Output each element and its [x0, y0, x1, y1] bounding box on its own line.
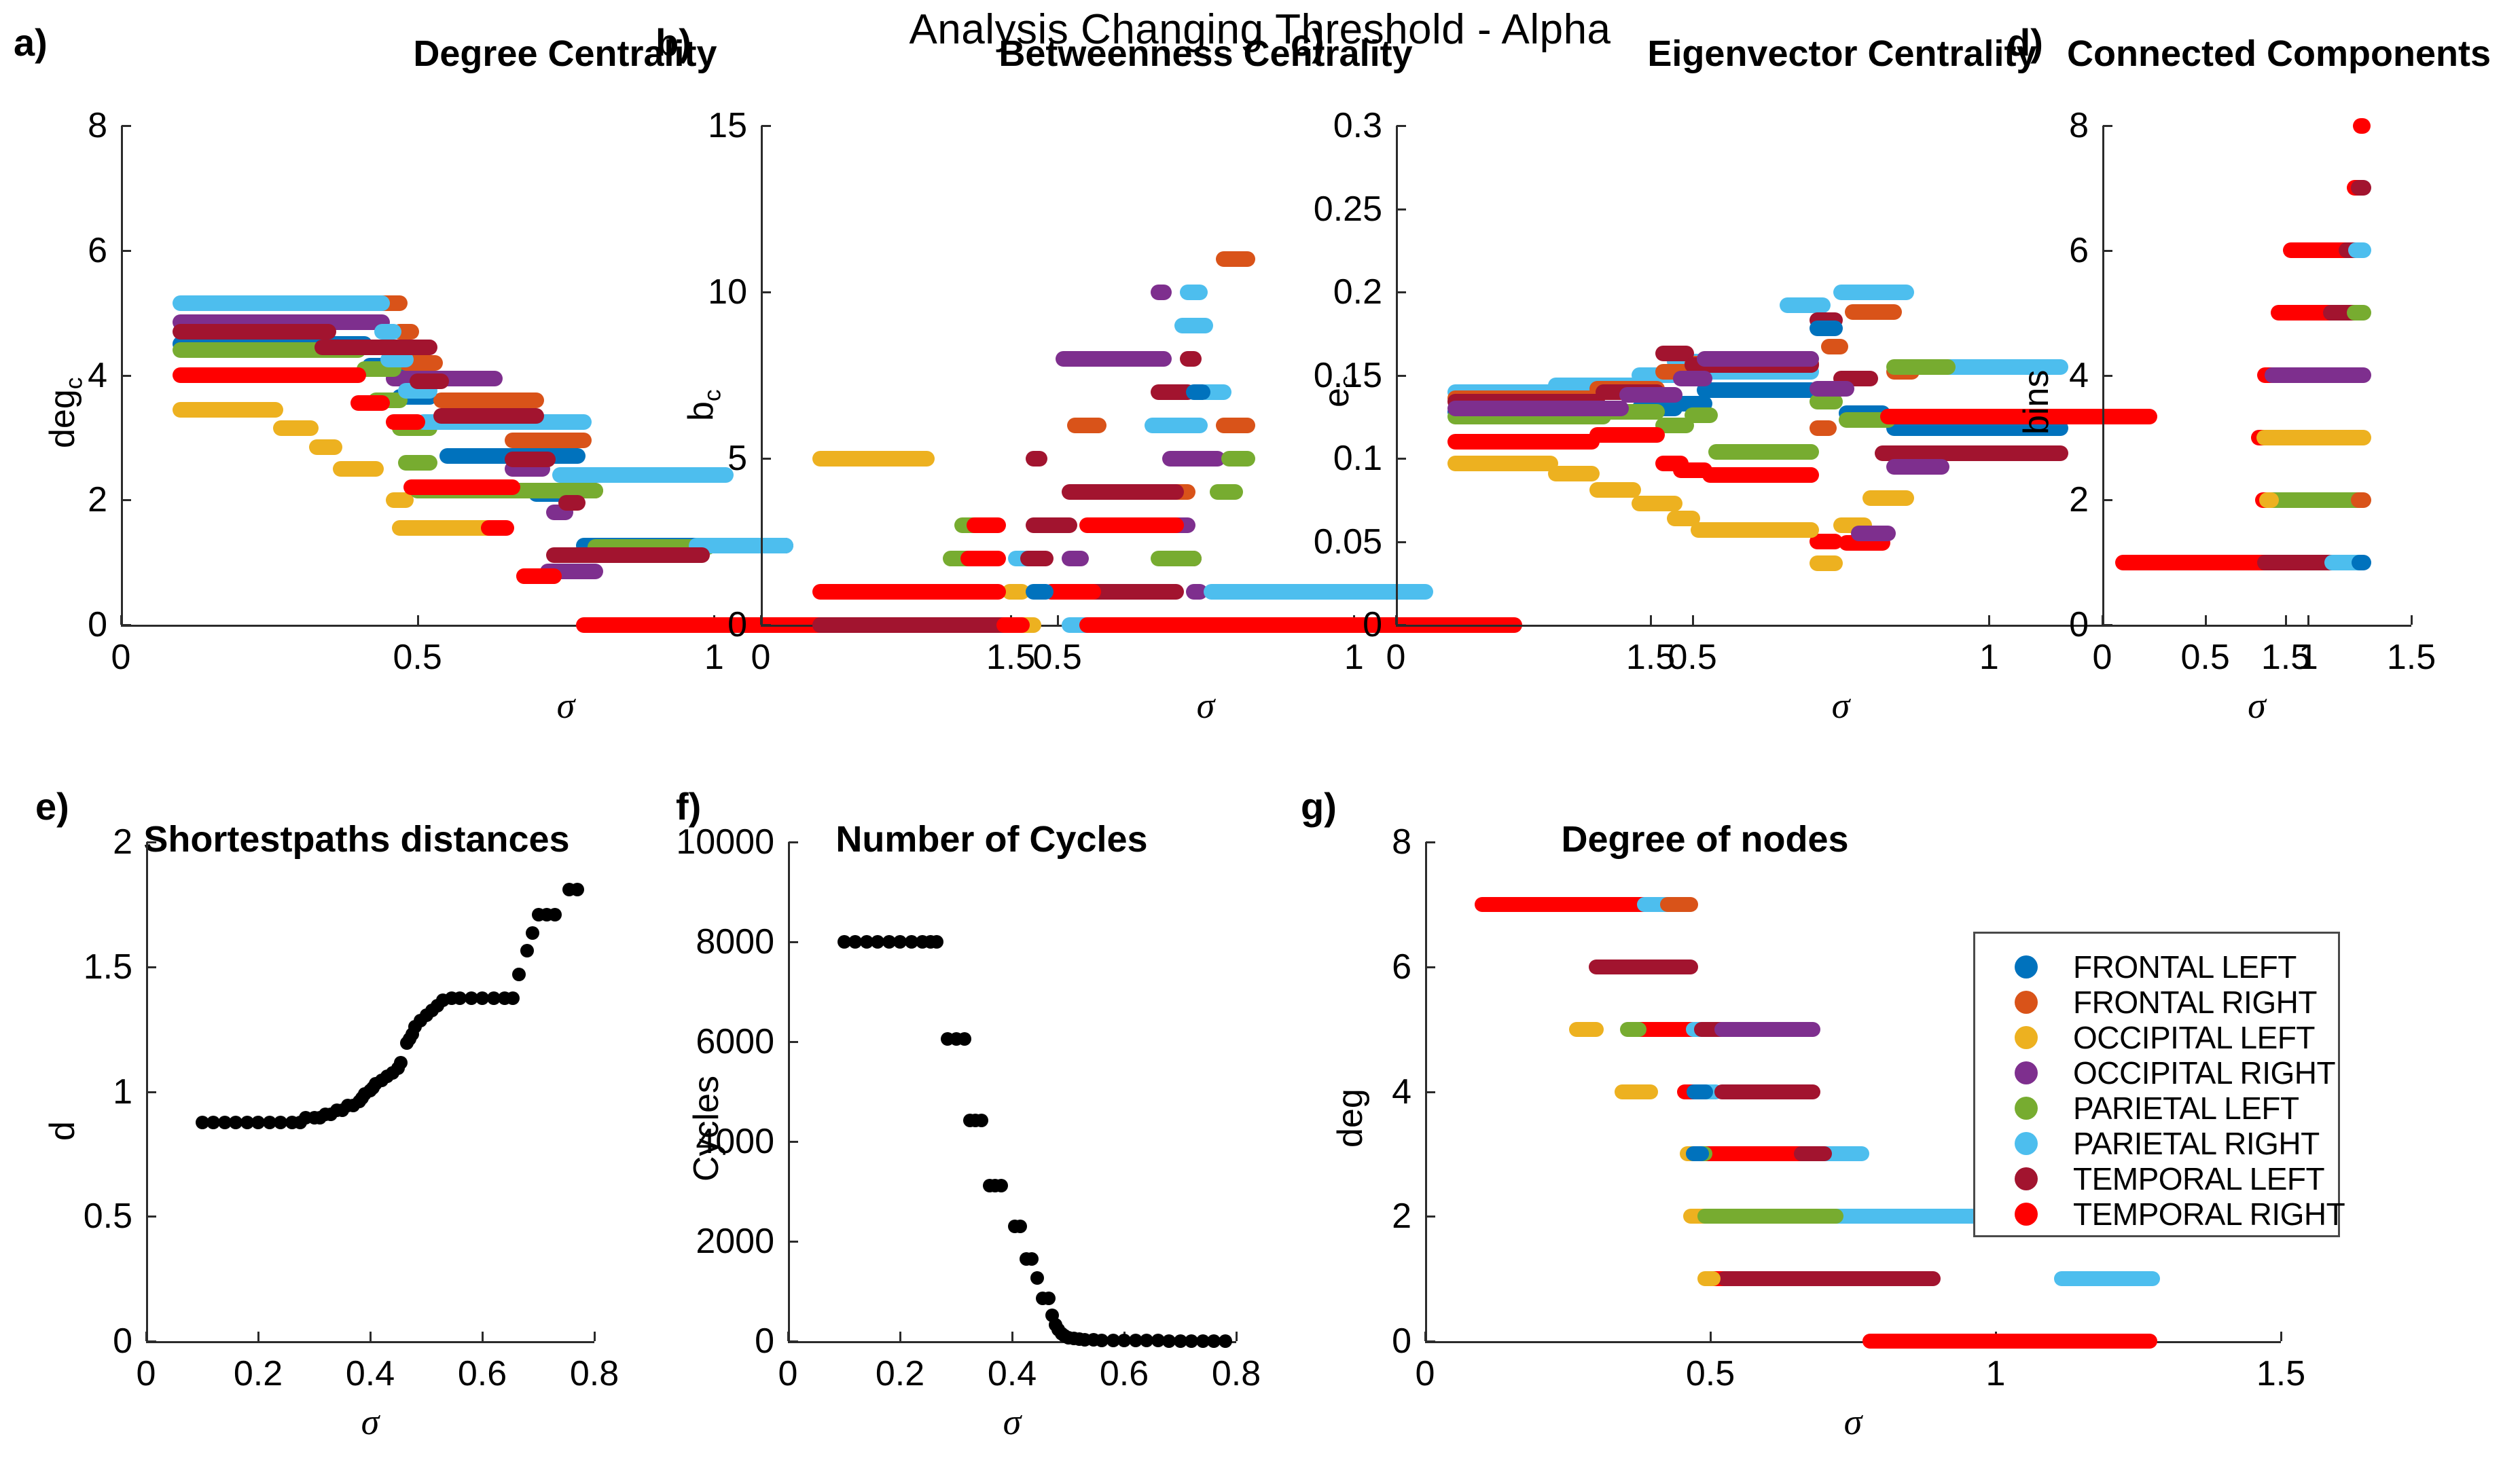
- data-series-segment: [967, 517, 1006, 533]
- data-series-segment: [2353, 118, 2371, 134]
- legend-item-occipital-right[interactable]: OCCIPITAL RIGHT: [2015, 1055, 2335, 1091]
- y-axis-label-b: bc: [681, 389, 726, 421]
- legend-label: PARIETAL LEFT: [2073, 1090, 2299, 1127]
- data-point: [394, 1056, 408, 1070]
- data-series-segment: [403, 479, 520, 495]
- data-series-segment: [1174, 318, 1214, 333]
- data-series-segment: [546, 547, 710, 563]
- data-series-segment: [1845, 304, 1902, 320]
- data-series-segment: [1210, 484, 1243, 500]
- data-series-segment: [1714, 1022, 1820, 1037]
- panel-label-a: a): [14, 20, 48, 65]
- y-tick-label-f-5: 10000: [666, 822, 774, 862]
- data-series-segment: [1833, 285, 1914, 300]
- y-tick-label-d-0: 0: [1980, 604, 2089, 645]
- data-series-segment: [1162, 451, 1225, 467]
- data-series-segment: [173, 324, 336, 340]
- data-series-segment: [1886, 459, 1949, 475]
- x-axis-label-c: σ: [1832, 684, 1850, 727]
- legend-marker-icon: [2015, 1026, 2038, 1049]
- data-point: [958, 1032, 971, 1046]
- data-series-segment: [1620, 1022, 1646, 1037]
- data-series-segment: [1447, 434, 1600, 450]
- y-tick-label-a-0: 0: [0, 604, 107, 645]
- data-point: [1030, 1271, 1044, 1285]
- data-series-segment: [1180, 285, 1207, 300]
- data-series-segment: [1056, 351, 1172, 367]
- data-series-segment: [1794, 1146, 1832, 1161]
- data-series-segment: [1632, 496, 1682, 511]
- data-series-segment: [1020, 551, 1054, 566]
- data-series-segment: [173, 367, 366, 383]
- data-series-segment: [1851, 526, 1896, 541]
- data-series-segment: [2352, 555, 2371, 570]
- data-point: [975, 1114, 988, 1127]
- y-tick-label-c-2: 0.1: [1274, 438, 1382, 479]
- x-axis-label-e: σ: [361, 1401, 380, 1443]
- data-series-segment: [516, 568, 562, 584]
- data-series-segment: [1589, 427, 1664, 443]
- x-axis-label-f: σ: [1003, 1401, 1022, 1443]
- legend-label: PARIETAL RIGHT: [2073, 1125, 2320, 1162]
- legend-item-temporal-left[interactable]: TEMPORAL LEFT: [2015, 1161, 2324, 1197]
- data-series-segment: [2351, 180, 2371, 196]
- data-series-segment: [1697, 351, 1819, 367]
- data-series-segment: [1810, 381, 1855, 397]
- data-point: [520, 944, 534, 957]
- data-series-segment: [1475, 897, 1652, 912]
- y-axis-label-d: bins: [2016, 370, 2057, 435]
- data-point: [526, 926, 539, 940]
- data-series-segment: [1685, 407, 1718, 423]
- data-series-segment: [2259, 492, 2278, 508]
- data-series-segment: [1589, 960, 1698, 974]
- y-tick-label-b-1: 5: [638, 438, 747, 479]
- legend-marker-icon: [2015, 1132, 2038, 1155]
- data-series-segment: [505, 433, 592, 448]
- legend-label: FRONTAL LEFT: [2073, 949, 2297, 985]
- data-series-segment: [173, 295, 390, 311]
- data-series-segment: [1691, 522, 1819, 538]
- y-tick-label-a-3: 6: [0, 230, 107, 271]
- data-series-segment: [309, 439, 342, 455]
- data-series-segment: [1447, 401, 1630, 416]
- data-series-segment: [1079, 517, 1184, 533]
- data-series-segment: [1687, 1084, 1713, 1099]
- data-series-segment: [1697, 382, 1819, 398]
- data-series-segment: [350, 395, 390, 411]
- data-point: [1025, 1252, 1039, 1266]
- x-axis-label-b: σ: [1197, 684, 1215, 727]
- legend-item-frontal-right[interactable]: FRONTAL RIGHT: [2015, 984, 2317, 1021]
- data-series-segment: [386, 414, 425, 430]
- data-series-segment: [1062, 484, 1184, 500]
- legend-marker-icon: [2015, 955, 2038, 979]
- y-tick-label-f-1: 2000: [666, 1221, 774, 1262]
- data-series-segment: [173, 402, 283, 418]
- y-tick-label-f-3: 6000: [666, 1021, 774, 1062]
- data-series-segment: [2347, 305, 2371, 321]
- legend-label: TEMPORAL LEFT: [2073, 1161, 2324, 1197]
- y-tick-label-c-5: 0.25: [1274, 189, 1382, 230]
- data-series-segment: [1151, 551, 1202, 566]
- y-tick-label-e-0: 0: [24, 1321, 132, 1362]
- y-tick-label-c-4: 0.2: [1274, 272, 1382, 312]
- data-series-segment: [1780, 297, 1831, 313]
- legend-item-parietal-left[interactable]: PARIETAL LEFT: [2015, 1090, 2299, 1127]
- data-series-segment: [1548, 466, 1599, 481]
- y-tick-label-c-6: 0.3: [1274, 105, 1382, 146]
- data-series-segment: [2265, 367, 2371, 383]
- legend-item-frontal-left[interactable]: FRONTAL LEFT: [2015, 949, 2297, 985]
- data-point: [930, 935, 943, 949]
- legend-marker-icon: [2015, 1097, 2038, 1120]
- y-tick-label-e-2: 1: [24, 1072, 132, 1112]
- x-axis-label-a: σ: [557, 684, 575, 727]
- legend-marker-icon: [2015, 991, 2038, 1014]
- data-series-segment: [1660, 897, 1698, 912]
- y-axis-label-e: d: [42, 1121, 83, 1141]
- y-axis-label-c: ec: [1316, 376, 1362, 407]
- data-series-segment: [1717, 1271, 1941, 1286]
- data-series-segment: [1619, 387, 1682, 403]
- data-series-segment: [1026, 451, 1047, 467]
- y-tick-label-e-3: 1.5: [24, 947, 132, 987]
- x-axis-label-g: σ: [1844, 1401, 1862, 1443]
- data-series-segment: [2115, 555, 2273, 570]
- data-point: [506, 991, 520, 1005]
- data-series-segment: [1810, 555, 1843, 571]
- data-series-segment: [1708, 444, 1819, 460]
- data-point: [512, 968, 526, 981]
- data-series-segment: [1026, 584, 1053, 600]
- legend-item-temporal-right[interactable]: TEMPORAL RIGHT: [2015, 1196, 2345, 1232]
- legend-box: FRONTAL LEFTFRONTAL RIGHTOCCIPITAL LEFTO…: [1973, 932, 2340, 1237]
- data-series-segment: [1862, 490, 1913, 506]
- data-series-segment: [1026, 517, 1077, 533]
- data-series-segment: [1221, 451, 1255, 467]
- panel-title-d: Connected Components: [1871, 33, 2520, 75]
- y-tick-label-f-0: 0: [666, 1321, 774, 1362]
- data-series-segment: [1886, 359, 1956, 375]
- legend-label: OCCIPITAL RIGHT: [2073, 1055, 2335, 1091]
- y-tick-label-d-4: 8: [1980, 105, 2089, 146]
- data-point: [1013, 1220, 1027, 1233]
- y-tick-label-g-1: 2: [1303, 1196, 1411, 1237]
- y-tick-label-g-0: 0: [1303, 1321, 1411, 1362]
- data-series-segment: [1180, 351, 1202, 367]
- data-series-segment: [1186, 384, 1210, 400]
- y-tick-label-b-2: 10: [638, 272, 747, 312]
- data-series-segment: [1062, 551, 1089, 566]
- data-series-segment: [314, 340, 437, 355]
- y-tick-label-e-4: 2: [24, 822, 132, 862]
- data-series-segment: [433, 392, 544, 408]
- data-series-segment: [1067, 418, 1106, 433]
- data-series-segment: [1821, 339, 1848, 354]
- data-series-segment: [1151, 285, 1172, 300]
- panel-label-b: b): [655, 20, 691, 65]
- data-series-segment: [374, 324, 401, 340]
- data-series-segment: [1702, 467, 1818, 483]
- data-series-segment: [2351, 492, 2371, 508]
- data-series-segment: [996, 617, 1030, 633]
- data-series-segment: [1216, 251, 1255, 267]
- y-tick-label-d-3: 6: [1980, 230, 2089, 271]
- plot-area-f: [788, 822, 1263, 1362]
- data-series-segment: [1673, 371, 1712, 386]
- legend-label: FRONTAL RIGHT: [2073, 984, 2317, 1021]
- data-series-segment: [433, 408, 544, 424]
- data-series-segment: [1447, 456, 1558, 471]
- data-series-segment: [1145, 418, 1208, 433]
- y-tick-label-a-4: 8: [0, 105, 107, 146]
- data-series-segment: [505, 452, 556, 467]
- plot-area-d: [2102, 105, 2438, 645]
- data-series-segment: [1697, 1209, 1843, 1224]
- y-tick-label-e-1: 0.5: [24, 1196, 132, 1237]
- data-series-segment: [1810, 420, 1837, 436]
- data-series-segment: [2054, 1271, 2160, 1286]
- data-series-segment: [2348, 242, 2372, 258]
- y-tick-label-a-1: 2: [0, 479, 107, 520]
- data-series-segment: [2256, 430, 2372, 445]
- legend-marker-icon: [2015, 1203, 2038, 1226]
- legend-marker-icon: [2015, 1061, 2038, 1084]
- y-tick-label-d-1: 2: [1980, 479, 2089, 520]
- y-axis-label-a: degc: [42, 378, 88, 448]
- panel-label-c: c): [1291, 20, 1325, 65]
- data-point: [1219, 1334, 1232, 1348]
- data-point: [548, 908, 562, 921]
- data-series-segment: [410, 373, 449, 389]
- data-series-segment: [1697, 1271, 1721, 1286]
- data-series-segment: [812, 617, 1018, 633]
- y-tick-label-c-0: 0: [1274, 604, 1382, 645]
- data-series-segment: [1216, 418, 1255, 433]
- data-series-segment: [398, 455, 437, 471]
- x-axis-label-d: σ: [2248, 684, 2266, 727]
- y-tick-label-g-4: 8: [1303, 822, 1411, 862]
- data-series-segment: [1589, 482, 1640, 498]
- legend-marker-icon: [2015, 1167, 2038, 1190]
- legend-item-occipital-left[interactable]: OCCIPITAL LEFT: [2015, 1019, 2315, 1056]
- data-series-segment: [1569, 1022, 1604, 1037]
- data-point: [994, 1179, 1008, 1192]
- legend-label: OCCIPITAL LEFT: [2073, 1019, 2315, 1056]
- legend-label: TEMPORAL RIGHT: [2073, 1196, 2345, 1232]
- data-series-segment: [812, 451, 935, 467]
- y-tick-label-b-0: 0: [638, 604, 747, 645]
- legend-item-parietal-right[interactable]: PARIETAL RIGHT: [2015, 1125, 2320, 1162]
- data-point: [1042, 1292, 1056, 1305]
- y-tick-label-f-4: 8000: [666, 921, 774, 962]
- data-series-segment: [333, 461, 384, 477]
- data-series-segment: [558, 495, 586, 511]
- data-series-segment: [812, 584, 1006, 600]
- data-point: [571, 883, 584, 896]
- data-series-segment: [273, 420, 319, 436]
- data-series-segment: [1810, 394, 1843, 409]
- data-series-segment: [1810, 321, 1843, 336]
- data-series-segment: [960, 551, 1006, 566]
- data-series-segment: [1862, 1334, 2157, 1349]
- plot-area-e: [146, 822, 622, 1362]
- data-series-segment: [1714, 1084, 1820, 1099]
- y-tick-label-g-3: 6: [1303, 947, 1411, 987]
- y-axis-label-g: deg: [1330, 1089, 1371, 1148]
- data-series-segment: [1686, 1146, 1710, 1161]
- y-axis-label-f: Cycles: [686, 1076, 727, 1182]
- data-series-segment: [1615, 1084, 1658, 1099]
- y-tick-label-b-3: 15: [638, 105, 747, 146]
- data-series-segment: [481, 520, 514, 536]
- y-tick-label-c-1: 0.05: [1274, 522, 1382, 562]
